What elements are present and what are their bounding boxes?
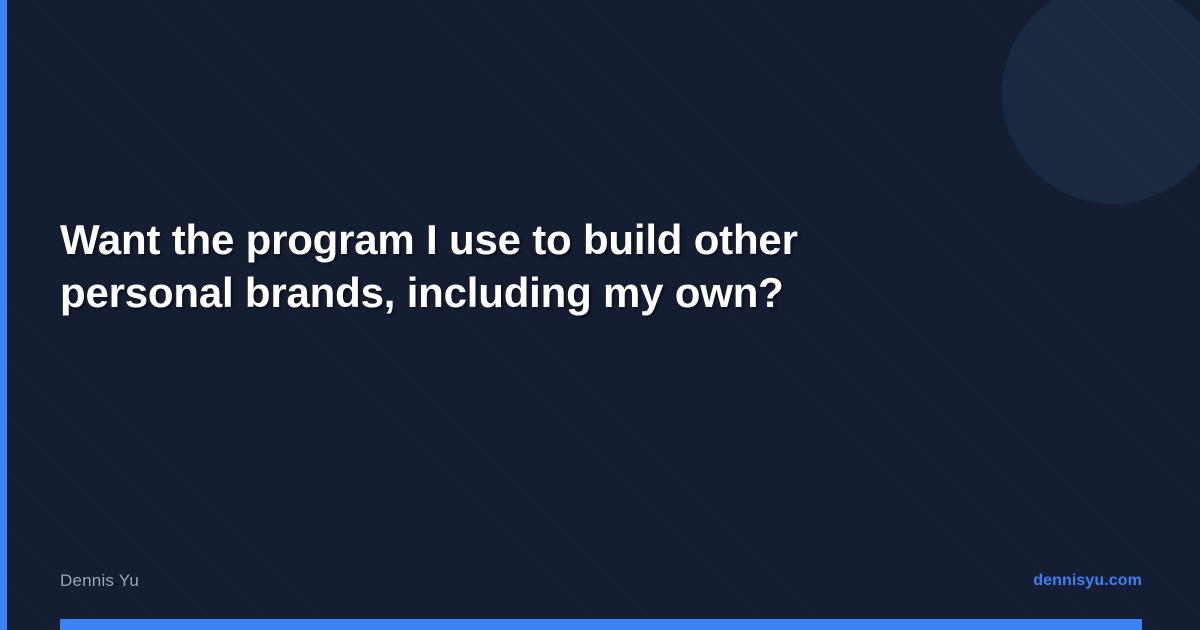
headline-text: Want the program I use to build other pe… (60, 214, 940, 320)
card-footer: Dennis Yu dennisyu.com (60, 569, 1142, 593)
left-accent-bar (0, 0, 7, 630)
website-link[interactable]: dennisyu.com (1033, 572, 1142, 590)
decorative-circle (1002, 0, 1200, 204)
quote-card: Want the program I use to build other pe… (0, 0, 1200, 630)
author-name: Dennis Yu (60, 571, 139, 591)
bottom-accent-bar (60, 619, 1142, 630)
